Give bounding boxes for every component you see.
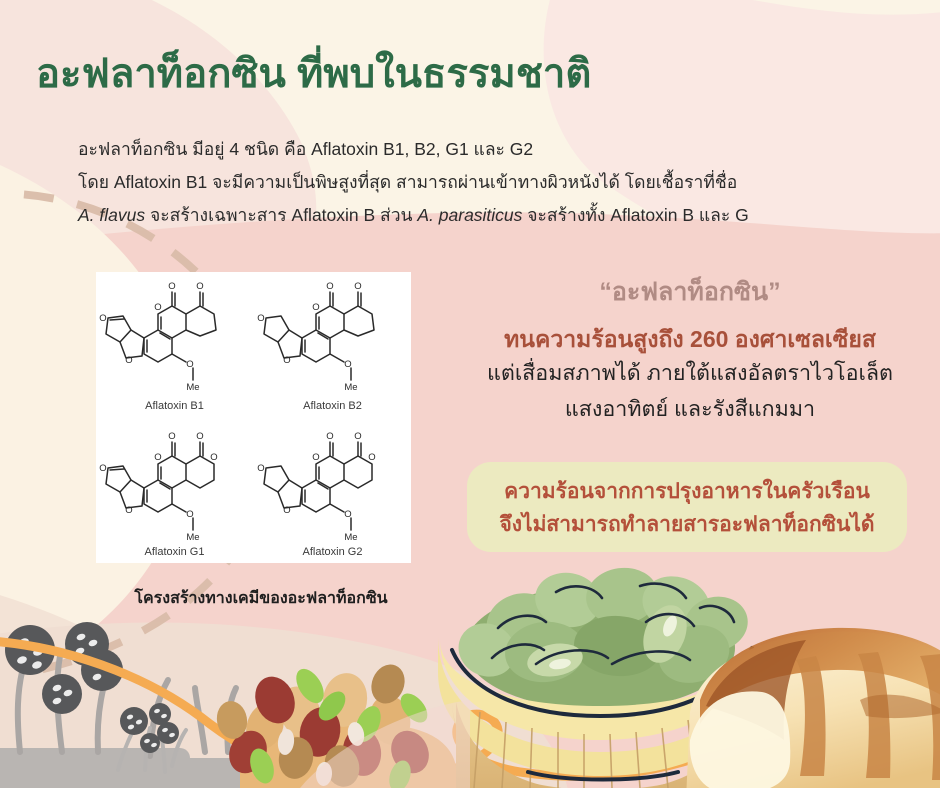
callout-box: ความร้อนจากการปรุงอาหารในครัวเรือน จึงไม…	[467, 462, 907, 552]
svg-text:O: O	[354, 431, 361, 442]
intro-line-3-tail: จะสร้างทั้ง Aflatoxin B และ G	[522, 205, 748, 225]
svg-text:O: O	[326, 281, 333, 292]
svg-text:O: O	[368, 452, 375, 463]
svg-text:O: O	[257, 463, 264, 474]
svg-text:O: O	[196, 281, 203, 292]
intro-paragraph: อะฟลาท็อกซิน มีอยู่ 4 ชนิด คือ Aflatoxin…	[78, 133, 938, 232]
methoxy-label-g1: Me	[186, 532, 199, 543]
degradation-line-1: แต่เสื่อมสภาพได้ ภายใต้แสงอัลตราไวโอเล็ต	[455, 355, 925, 391]
svg-text:O: O	[312, 452, 319, 463]
aflatoxin-b1-diagram: O O O O O O Me	[96, 272, 253, 417]
svg-text:O: O	[312, 302, 319, 313]
methoxy-label-b1: Me	[186, 382, 199, 393]
callout-text: ความร้อนจากการปรุงอาหารในครัวเรือน จึงไม…	[467, 475, 907, 541]
svg-text:O: O	[154, 302, 161, 313]
svg-text:O: O	[99, 463, 106, 474]
degradation-line-2: แสงอาทิตย์ และรังสีแกมมา	[455, 391, 925, 427]
aflatoxin-b2-diagram: O O O O O O Me	[254, 272, 411, 417]
structure-aflatoxin-g2: O O O O O O O Me Aflatoxin G2	[254, 418, 411, 563]
degradation-text: แต่เสื่อมสภาพได้ ภายใต้แสงอัลตราไวโอเล็ต…	[455, 355, 925, 427]
structure-aflatoxin-b2: O O O O O O Me Aflatoxin B2	[254, 272, 411, 417]
svg-text:O: O	[210, 452, 217, 463]
structure-label-g1: Aflatoxin G1	[96, 546, 253, 558]
svg-text:O: O	[125, 505, 132, 516]
svg-text:O: O	[283, 505, 290, 516]
structure-label-b2: Aflatoxin B2	[254, 400, 411, 412]
svg-text:O: O	[99, 313, 106, 324]
structure-caption: โครงสร้างทางเคมีของอะฟลาท็อกซิน	[96, 586, 426, 611]
page-title: อะฟลาท็อกซิน ที่พบในธรรมชาติ	[36, 52, 591, 96]
aflatoxin-g1-diagram: O O O O O O O Me	[96, 418, 253, 563]
svg-text:O: O	[168, 281, 175, 292]
intro-line-3-mid: จะสร้างเฉพาะสาร Aflatoxin B ส่วน	[145, 205, 417, 225]
aflatoxin-quote: “อะฟลาท็อกซิน”	[460, 272, 920, 312]
aflatoxin-g2-diagram: O O O O O O O Me	[254, 418, 411, 563]
structure-aflatoxin-b1: O O O O O O Me Aflatoxin B1	[96, 272, 253, 417]
species-a-flavus: A. flavus	[78, 205, 145, 225]
heat-resistance-text: ทนความร้อนสูงถึง 260 องศาเซลเซียส	[460, 322, 920, 358]
poster-root: อะฟลาท็อกซิน ที่พบในธรรมชาติ อะฟลาท็อกซิ…	[0, 0, 940, 788]
svg-text:O: O	[283, 355, 290, 366]
methoxy-label-g2: Me	[344, 532, 357, 543]
svg-text:O: O	[257, 313, 264, 324]
svg-text:O: O	[125, 355, 132, 366]
svg-text:O: O	[326, 431, 333, 442]
structure-aflatoxin-g1: O O O O O O O Me Aflatoxin G1	[96, 418, 253, 563]
callout-line-1: ความร้อนจากการปรุงอาหารในครัวเรือน	[467, 475, 907, 508]
intro-line-1: อะฟลาท็อกซิน มีอยู่ 4 ชนิด คือ Aflatoxin…	[78, 133, 938, 166]
structure-label-b1: Aflatoxin B1	[96, 400, 253, 412]
species-a-parasiticus: A. parasiticus	[417, 205, 522, 225]
intro-line-2: โดย Aflatoxin B1 จะมีความเป็นพิษสูงที่สุ…	[78, 166, 938, 199]
svg-text:O: O	[196, 431, 203, 442]
svg-text:O: O	[344, 509, 351, 520]
svg-text:O: O	[344, 359, 351, 370]
svg-text:O: O	[186, 509, 193, 520]
svg-text:O: O	[354, 281, 361, 292]
svg-text:O: O	[186, 359, 193, 370]
svg-text:O: O	[168, 431, 175, 442]
callout-line-2: จึงไม่สามารถทำลายสารอะฟลาท็อกซินได้	[467, 508, 907, 541]
intro-line-3: A. flavus จะสร้างเฉพาะสาร Aflatoxin B ส่…	[78, 199, 938, 232]
svg-text:O: O	[154, 452, 161, 463]
structure-label-g2: Aflatoxin G2	[254, 546, 411, 558]
methoxy-label-b2: Me	[344, 382, 357, 393]
chemical-structure-panel: O O O O O O Me Aflatoxin B1	[96, 272, 411, 563]
